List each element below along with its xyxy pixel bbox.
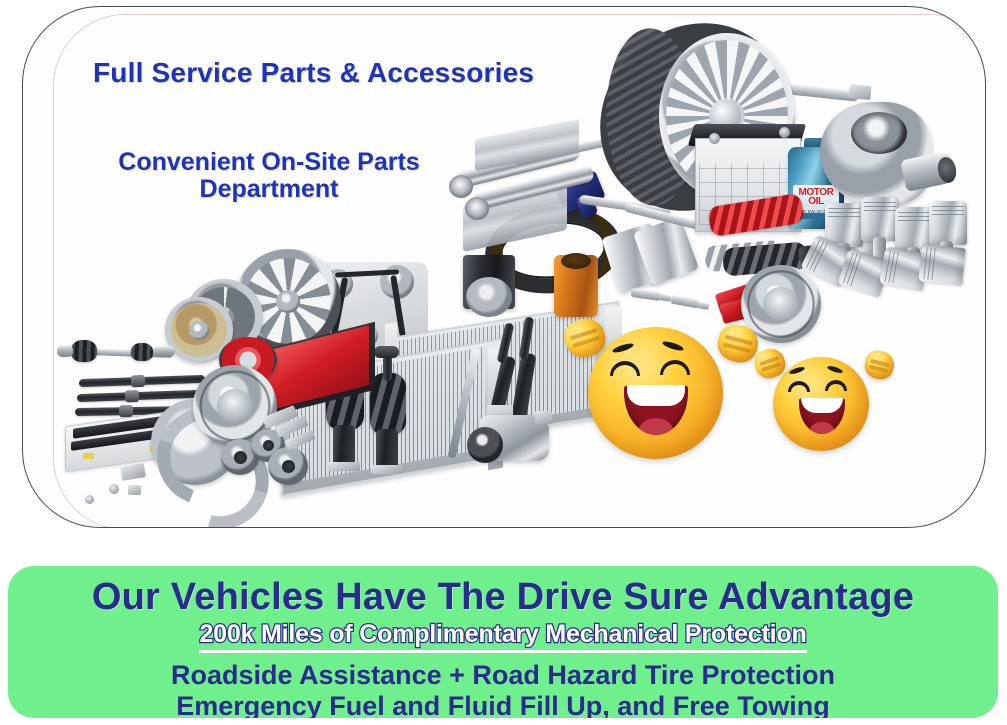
cv-axle-joint — [57, 345, 73, 357]
strut-rod-2 — [383, 355, 392, 381]
battery-terminal-negative — [779, 127, 790, 138]
banner-detail-line-1: Roadside Assistance + Road Hazard Tire P… — [8, 660, 998, 691]
hero-card: MOTOR OIL SAE 5W-30 FULL SYNTHETIC — [22, 6, 986, 528]
emoji-eye-left-small — [788, 381, 810, 392]
emoji-mouth-small — [799, 398, 845, 434]
emoji-brow-right-small — [827, 365, 844, 375]
clutch-hub — [189, 321, 209, 340]
wiper-blades — [79, 375, 205, 387]
wiper-clip-2 — [125, 390, 139, 402]
emoji-brow-right — [662, 340, 685, 353]
wiper-clip — [131, 375, 145, 387]
spark-plugs — [631, 288, 662, 301]
emoji-eye-left — [610, 361, 640, 376]
brake-rotor-left-hat — [217, 389, 253, 423]
emoji-eye-right — [660, 360, 690, 375]
water-pump-bore — [234, 451, 247, 464]
wheel-hub-bore — [282, 460, 295, 473]
emoji-brow-left-small — [789, 366, 806, 376]
alloy-wheel-hub — [276, 290, 300, 313]
ecm-fuse — [83, 453, 94, 459]
strut-bracket-2 — [371, 465, 402, 474]
ac-compressor-clutch — [467, 427, 503, 463]
wiper-clip-3 — [119, 405, 133, 417]
oil-filter-base — [466, 277, 512, 317]
cv-axle-boot — [71, 340, 97, 362]
page-subtitle: Convenient On-Site Parts Department — [83, 149, 455, 203]
brake-rotor-hat — [763, 287, 799, 321]
cv-axle-outer-joint — [153, 346, 175, 357]
engine-piston-2 — [861, 197, 899, 241]
drive-sure-advantage-banner: Our Vehicles Have The Drive Sure Advanta… — [8, 566, 998, 718]
page-title: Full Service Parts & Accessories — [93, 57, 534, 89]
spark-plugs-2 — [670, 295, 699, 309]
banner-headline: Our Vehicles Have The Drive Sure Advanta… — [8, 575, 998, 619]
exhaust-tip-2 — [465, 197, 489, 220]
sensor-bracket — [120, 463, 146, 481]
banner-highlight-row: 200k Miles of Complimentary Mechanical P… — [8, 619, 998, 653]
strut-brace-end — [848, 84, 871, 100]
promo-flyer: MOTOR OIL SAE 5W-30 FULL SYNTHETIC — [0, 0, 1007, 725]
strut-assembly-2 — [370, 373, 406, 435]
emoji-fist-right-small — [862, 348, 897, 382]
orange-filter-bore — [561, 253, 591, 269]
engine-piston-4 — [929, 201, 967, 245]
strut-bracket — [328, 462, 360, 471]
emoji-teeth — [627, 385, 685, 406]
turbocharger-compressor-inlet — [851, 112, 907, 154]
washer — [109, 484, 119, 494]
laughing-cheering-face-small — [773, 357, 869, 451]
bushing — [85, 495, 94, 504]
banner-detail-line-2: Emergency Fuel and Fluid Fill Up, and Fr… — [8, 691, 998, 718]
emoji-tongue — [638, 418, 674, 435]
laughing-cheering-face-large — [588, 327, 723, 459]
engine-piston-8 — [918, 244, 966, 286]
ac-compressor-port — [535, 411, 552, 424]
emoji-teeth-small — [801, 398, 842, 413]
emoji-brow-left — [612, 342, 635, 355]
spark-plug-tip — [659, 294, 672, 302]
water-pump-2-bore — [263, 440, 274, 451]
strut-mount-2 — [374, 346, 399, 358]
banner-highlight: 200k Miles of Complimentary Mechanical P… — [199, 619, 806, 653]
battery-terminal-positive — [709, 133, 720, 144]
spark-plug-tip-2 — [697, 302, 710, 310]
emoji-eye-right-small — [825, 380, 847, 391]
cv-axle-boot-2 — [131, 343, 153, 361]
emoji-mouth — [624, 385, 688, 435]
relay-block — [128, 485, 141, 495]
emoji-tongue-small — [809, 422, 835, 434]
